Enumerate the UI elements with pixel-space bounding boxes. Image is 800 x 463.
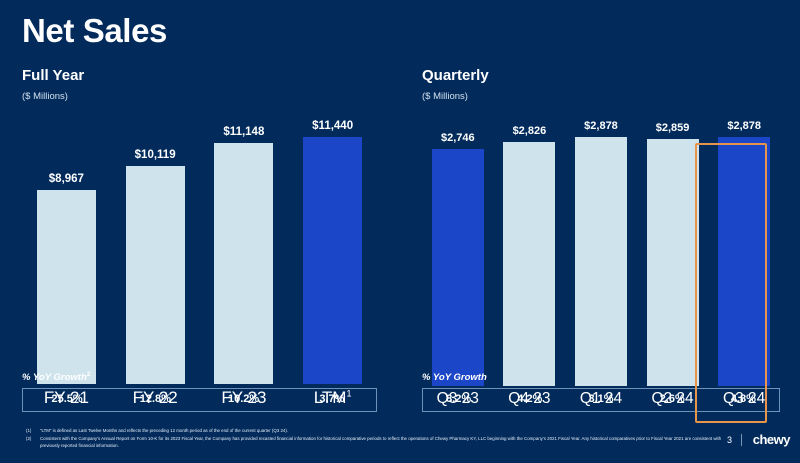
chart-quarterly: $2,746Q3 23$2,826Q4 23$2,878Q1 24$2,859Q… [422,108,780,406]
bar [503,142,555,386]
bar-column-fy-22: $10,119FY 22 [111,108,200,406]
bar-value-label: $11,440 [312,121,353,133]
footnote-text: “LTM” is defined as Last Twelve Months a… [40,428,726,435]
bar-value-label: $11,148 [223,127,264,139]
bar [214,143,273,384]
growth-cell: 8.2% [423,389,494,411]
bar-column-q3-23: $2,746Q3 23 [422,108,494,406]
footnote-text: Consistent with the Company’s Annual Rep… [40,436,726,450]
bar [126,166,185,384]
bar [718,137,770,386]
growth-block-full-year: % YoY Growth2 25.5%12.8%10.2%3.7% [22,372,377,412]
bar-column-fy-21: $8,967FY 21 [22,108,111,406]
panel-full-year: Full Year ($ Millions) $8,967FY 21$10,11… [22,68,377,102]
growth-title-text: % YoY Growth [22,372,87,383]
page-title: Net Sales [22,12,167,50]
bar [37,190,96,384]
panel-units-quarterly: ($ Millions) [422,92,780,102]
growth-cell: 2.6% [637,389,708,411]
bar [432,149,484,386]
chart-full-year: $8,967FY 21$10,119FY 22$11,148FY 23$11,4… [22,108,377,406]
panel-title-full-year: Full Year [22,68,377,83]
growth-title-text: % YoY Growth [422,372,487,383]
footnote-item: (1)“LTM” is defined as Last Twelve Month… [26,428,726,435]
bar-value-label: $8,967 [49,174,84,186]
growth-cell: 12.8% [111,389,199,411]
page-number: 3 [727,436,732,445]
panel-quarterly: Quarterly ($ Millions) $2,746Q3 23$2,826… [422,68,780,102]
bar [647,139,699,386]
bar [303,137,362,384]
bar-value-label: $2,878 [727,121,761,132]
brand-logo-chewy: chewy [753,433,790,446]
bar-value-label: $2,878 [584,121,618,132]
growth-title-quarterly: % YoY Growth [422,372,780,383]
growth-block-quarterly: % YoY Growth 8.2%4.2%3.1%2.6%4.8% [422,372,780,412]
bar-column-ltm: $11,440LTM1 [288,108,377,406]
growth-cell: 10.2% [200,389,288,411]
growth-title-superscript: 2 [87,371,91,378]
growth-cell: 3.1% [565,389,636,411]
bar-value-label: $2,859 [656,123,690,134]
bar-column-q1-24: $2,878Q1 24 [565,108,637,406]
bar [575,137,627,386]
panel-units-full-year: ($ Millions) [22,92,377,102]
bar-value-label: $10,119 [135,150,176,162]
bar-column-fy-23: $11,148FY 23 [200,108,289,406]
growth-cell: 25.5% [23,389,111,411]
panel-title-quarterly: Quarterly [422,68,780,83]
footnote-number: (1) [26,428,40,435]
bar-column-q3-24: $2,878Q3 24 [708,108,780,406]
growth-row-full-year: 25.5%12.8%10.2%3.7% [22,388,377,412]
bar-column-q4-23: $2,826Q4 23 [494,108,566,406]
bar-value-label: $2,826 [513,126,547,137]
footnote-item: (2)Consistent with the Company’s Annual … [26,436,726,450]
growth-cell: 4.2% [494,389,565,411]
growth-cell: 3.7% [288,389,376,411]
footnote-number: (2) [26,436,40,450]
growth-row-quarterly: 8.2%4.2%3.1%2.6%4.8% [422,388,780,412]
bar-column-q2-24: $2,859Q2 24 [637,108,709,406]
footer-divider [741,434,742,446]
growth-title-full-year: % YoY Growth2 [22,372,377,383]
growth-cell: 4.8% [708,389,779,411]
footnotes: (1)“LTM” is defined as Last Twelve Month… [26,428,726,450]
slide-net-sales: Net Sales Full Year ($ Millions) $8,967F… [0,0,800,463]
bar-value-label: $2,746 [441,133,475,144]
